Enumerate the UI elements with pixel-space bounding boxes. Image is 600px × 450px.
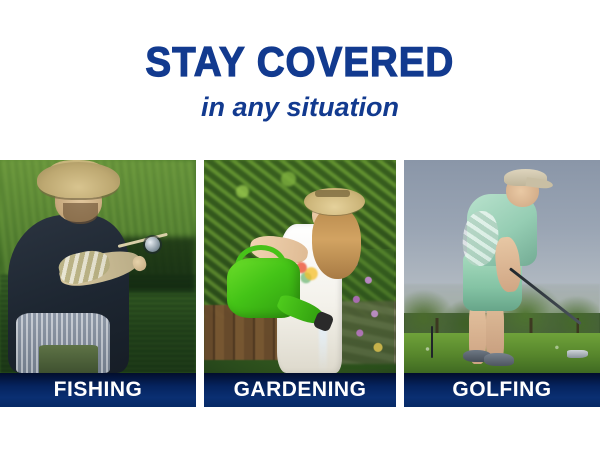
- panel-fishing[interactable]: FISHING: [0, 160, 196, 407]
- headline-block: STAY COVERED in any situation: [0, 0, 600, 160]
- promo-banner: STAY COVERED in any situation: [0, 0, 600, 450]
- page-title: STAY COVERED: [146, 40, 455, 84]
- panel-row: FISHING: [0, 160, 600, 407]
- hat-band: [315, 190, 350, 197]
- caption-label-gardening: GARDENING: [234, 378, 367, 402]
- panel-gardening[interactable]: GARDENING: [204, 160, 396, 407]
- golfing-photo: [404, 160, 600, 373]
- caption-bar-fishing: FISHING: [0, 373, 196, 407]
- page-subtitle: in any situation: [201, 92, 399, 122]
- angler-beard: [63, 203, 98, 224]
- fishing-reel: [145, 237, 160, 252]
- fishing-photo: [0, 160, 196, 373]
- golfer-right-shoe: [484, 353, 513, 366]
- water-stream: [319, 326, 327, 373]
- caption-bar-gardening: GARDENING: [204, 373, 396, 407]
- angler-waders: [39, 345, 98, 373]
- angler-straw-hat: [37, 162, 119, 198]
- gardening-photo: [204, 160, 396, 373]
- panel-golfing[interactable]: GOLFING: [404, 160, 600, 407]
- caption-label-golfing: GOLFING: [452, 378, 551, 402]
- golf-club-head: [567, 350, 589, 359]
- gardener-hair: [312, 207, 362, 279]
- caption-label-fishing: FISHING: [54, 378, 143, 402]
- caption-bar-golfing: GOLFING: [404, 373, 600, 407]
